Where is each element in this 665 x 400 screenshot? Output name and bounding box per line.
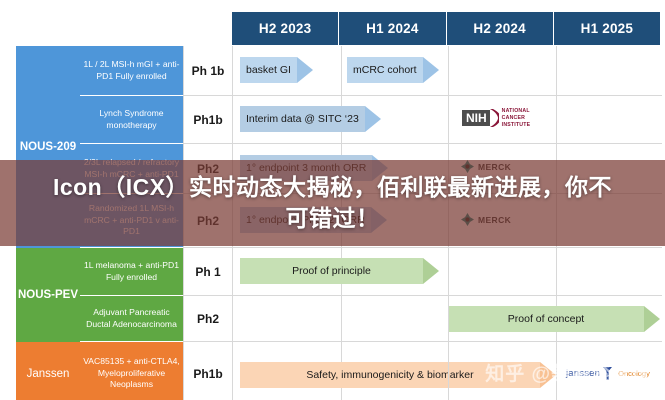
arrow-tip-icon — [644, 306, 660, 332]
indication-cell: Adjuvant Pancreatic Ductal Adenocarcinom… — [80, 296, 183, 342]
timeline-cell: Interim data @ SITC ‘23 NIH NATIONAL CAN… — [232, 96, 662, 144]
arrow-label: mCRC cohort — [347, 57, 423, 83]
header-col-h2-2024: H2 2024 — [447, 12, 554, 45]
table-row: Adjuvant Pancreatic Ductal Adenocarcinom… — [16, 296, 662, 342]
arrow-label: Proof of concept — [448, 306, 644, 332]
pipeline-timeline-image: H2 2023 H1 2024 H2 2024 H1 2025 NOUS-209… — [0, 0, 665, 400]
header-col-h2-2023: H2 2023 — [232, 12, 339, 45]
milestone-arrow: mCRC cohort — [347, 57, 439, 83]
indication-cell: VAC85135 + anti-CTLA4, Myeloproliferativ… — [80, 342, 183, 400]
arrow-tip-icon — [365, 106, 381, 132]
nci-line-1: NATIONAL — [502, 108, 531, 115]
nci-line-2: CANCER — [502, 115, 531, 122]
nih-mark: NIH — [462, 110, 490, 126]
phase-cell: Ph1b — [183, 342, 232, 400]
arrow-label: Proof of principle — [240, 258, 423, 284]
overlay-title-text: Icon（ICX）实时动态大揭秘，佰利联最新进展，你不可错过！ — [53, 172, 613, 233]
milestone-arrow: Proof of principle — [240, 258, 439, 284]
indication-cell: 1L melanoma + anti-PD1 Fully enrolled — [80, 248, 183, 296]
phase-cell: Ph1b — [183, 96, 232, 144]
nih-swoosh-icon — [490, 109, 499, 127]
header-col-h1-2024: H1 2024 — [339, 12, 446, 45]
milestone-arrow: Interim data @ SITC ‘23 — [240, 106, 381, 132]
arrow-label: basket GI — [240, 57, 297, 83]
table-row: 1L / 2L MSI-h mGI + anti-PD1 Fully enrol… — [16, 46, 662, 96]
phase-cell: Ph2 — [183, 296, 232, 342]
zhihu-watermark: 知乎 @美股滚雪球 — [485, 359, 651, 386]
nci-wordmark: NATIONAL CANCER INSTITUTE — [502, 108, 531, 128]
arrow-tip-icon — [423, 258, 439, 284]
timeline-cell: Proof of concept — [232, 296, 662, 342]
indication-cell: Lynch Syndrome monotherapy — [80, 96, 183, 144]
phase-cell: Ph 1 — [183, 248, 232, 296]
timeline-cell: basket GI mCRC cohort — [232, 46, 662, 96]
arrow-label: Interim data @ SITC ‘23 — [240, 106, 365, 132]
indication-cell: 1L / 2L MSI-h mGI + anti-PD1 Fully enrol… — [80, 46, 183, 96]
timeline-cell: Proof of principle — [232, 248, 662, 296]
timeline-header-row: H2 2023 H1 2024 H2 2024 H1 2025 — [232, 12, 660, 45]
arrow-tip-icon — [423, 57, 439, 83]
phase-cell: Ph 1b — [183, 46, 232, 96]
milestone-arrow: basket GI — [240, 57, 313, 83]
table-row: Lynch Syndrome monotherapy Ph1b Interim … — [16, 96, 662, 144]
nci-line-3: INSTITUTE — [502, 122, 531, 129]
overlay-title-banner: Icon（ICX）实时动态大揭秘，佰利联最新进展，你不可错过！ — [0, 160, 665, 246]
milestone-arrow: Proof of concept — [448, 306, 660, 332]
nih-nci-logo: NIH NATIONAL CANCER INSTITUTE — [462, 108, 530, 128]
arrow-tip-icon — [297, 57, 313, 83]
table-row: 1L melanoma + anti-PD1 Fully enrolled Ph… — [16, 248, 662, 296]
header-col-h1-2025: H1 2025 — [554, 12, 660, 45]
